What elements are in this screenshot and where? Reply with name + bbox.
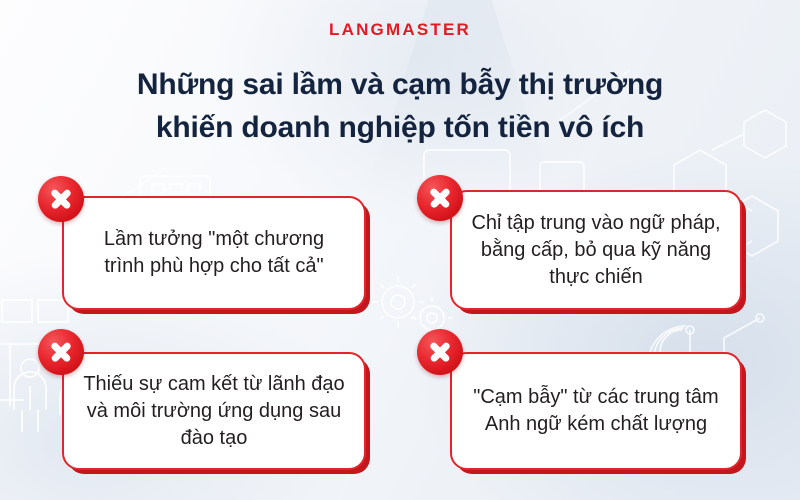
mistake-card-3: Thiếu sự cam kết từ lãnh đạo và môi trườ…: [62, 352, 366, 470]
mistake-card-4: "Cạm bẫy" từ các trung tâm Anh ngữ kém c…: [450, 352, 742, 470]
mistake-card-1-text: Lầm tưởng "một chương trình phù hợp cho …: [64, 226, 364, 280]
page-title-line-2: khiến doanh nghiệp tốn tiền vô ích: [0, 106, 800, 149]
brand-logo: LANGMASTER: [0, 20, 800, 40]
mistake-card-1: Lầm tưởng "một chương trình phù hợp cho …: [62, 196, 366, 310]
page-title-line-1: Những sai lầm và cạm bẫy thị trường: [137, 68, 663, 101]
infographic-poster: LANGMASTER Những sai lầm và cạm bẫy thị …: [0, 0, 800, 500]
page-title: Những sai lầm và cạm bẫy thị trường khiế…: [0, 63, 800, 149]
mistake-card-2-text: Chỉ tập trung vào ngữ pháp, bằng cấp, bỏ…: [452, 210, 740, 291]
mistake-card-4-text: "Cạm bẫy" từ các trung tâm Anh ngữ kém c…: [452, 384, 740, 438]
x-mark-icon: [38, 176, 84, 222]
mistake-card-2: Chỉ tập trung vào ngữ pháp, bằng cấp, bỏ…: [450, 190, 742, 310]
x-mark-icon: [417, 175, 463, 221]
x-mark-icon: [38, 329, 84, 375]
x-mark-icon: [417, 329, 463, 375]
mistake-card-3-text: Thiếu sự cam kết từ lãnh đạo và môi trườ…: [64, 371, 364, 452]
